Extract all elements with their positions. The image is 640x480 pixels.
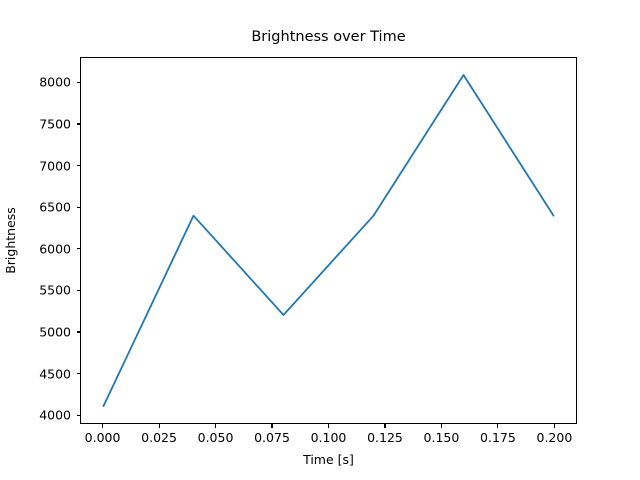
x-tick-label: 0.025: [119, 430, 199, 445]
y-tick-label: 7000: [11, 158, 71, 173]
x-tick-label: 0.075: [232, 430, 312, 445]
x-tick-mark: [384, 424, 385, 428]
x-tick-label: 0.200: [514, 430, 594, 445]
series-polyline: [103, 75, 553, 406]
y-axis-label-text: Brightness: [3, 207, 18, 274]
y-tick-label: 7500: [11, 116, 71, 131]
x-tick-mark: [441, 424, 442, 428]
x-tick-label: 0.100: [289, 430, 369, 445]
x-tick-mark: [215, 424, 216, 428]
data-line-series: [81, 58, 576, 423]
x-tick-mark: [497, 424, 498, 428]
x-tick-label: 0.150: [401, 430, 481, 445]
x-tick-label: 0.000: [63, 430, 143, 445]
y-tick-label: 5000: [11, 325, 71, 340]
x-tick-mark: [102, 424, 103, 428]
x-tick-label: 0.175: [458, 430, 538, 445]
y-tick-label: 5500: [11, 283, 71, 298]
y-tick-label: 4500: [11, 366, 71, 381]
y-axis-label: Brightness: [0, 57, 20, 424]
x-tick-mark: [328, 424, 329, 428]
y-tick-label: 4000: [11, 408, 71, 423]
figure-canvas: Brightness over Time 4000450050005500600…: [0, 0, 640, 480]
x-tick-label: 0.050: [176, 430, 256, 445]
y-tick-label: 8000: [11, 75, 71, 90]
x-axis-label: Time [s]: [80, 452, 577, 467]
x-tick-mark: [159, 424, 160, 428]
y-tick-label: 6000: [11, 241, 71, 256]
y-tick-label: 6500: [11, 200, 71, 215]
plot-area: [80, 57, 577, 424]
x-tick-mark: [554, 424, 555, 428]
x-tick-label: 0.125: [345, 430, 425, 445]
chart-title: Brightness over Time: [80, 27, 577, 47]
x-tick-mark: [271, 424, 272, 428]
